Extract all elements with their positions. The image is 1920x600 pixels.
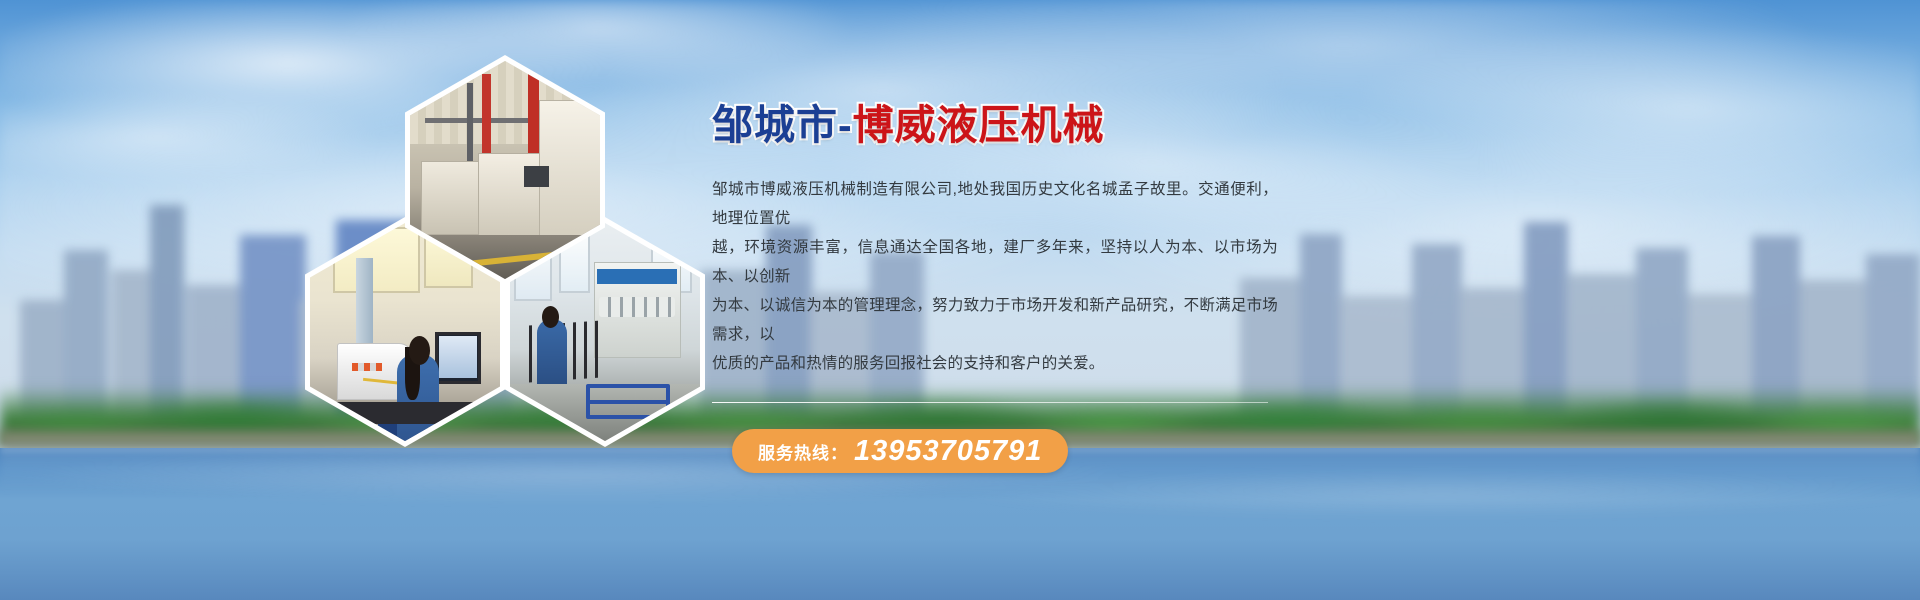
title-city-part: 邹城市- bbox=[712, 102, 853, 148]
banner-content: 邹城市-博威液压机械 邹城市博威液压机械制造有限公司,地处我国历史文化名城孟子故… bbox=[712, 100, 1292, 473]
title-brand-part: 博威液压机械 bbox=[853, 102, 1105, 148]
company-description: 邹城市博威液压机械制造有限公司,地处我国历史文化名城孟子故里。交通便利，地理位置… bbox=[712, 175, 1278, 378]
description-line: 越，环境资源丰富，信息通达全国各地，建厂多年来，坚持以人为本、以市场为本、以创新 bbox=[712, 233, 1278, 291]
description-line: 邹城市博威液压机械制造有限公司,地处我国历史文化名城孟子故里。交通便利，地理位置… bbox=[712, 175, 1278, 233]
hotline-label: 服务热线： bbox=[758, 439, 848, 464]
description-line: 优质的产品和热情的服务回报社会的支持和客户的关爱。 bbox=[712, 349, 1278, 378]
hexagon-photo-gallery bbox=[300, 55, 700, 445]
page-title: 邹城市-博威液压机械 bbox=[712, 100, 1292, 151]
description-line: 为本、以诚信为本的管理理念，努力致力于市场开发和新产品研究，不断满足市场需求，以 bbox=[712, 291, 1278, 349]
hotline-number: 13953705791 bbox=[854, 435, 1042, 468]
hotline-button[interactable]: 服务热线： 13953705791 bbox=[732, 429, 1068, 473]
hex-photo-factory-image bbox=[410, 61, 600, 279]
company-banner: 邹城市-博威液压机械 邹城市博威液压机械制造有限公司,地处我国历史文化名城孟子故… bbox=[0, 0, 1920, 600]
divider bbox=[712, 402, 1268, 403]
